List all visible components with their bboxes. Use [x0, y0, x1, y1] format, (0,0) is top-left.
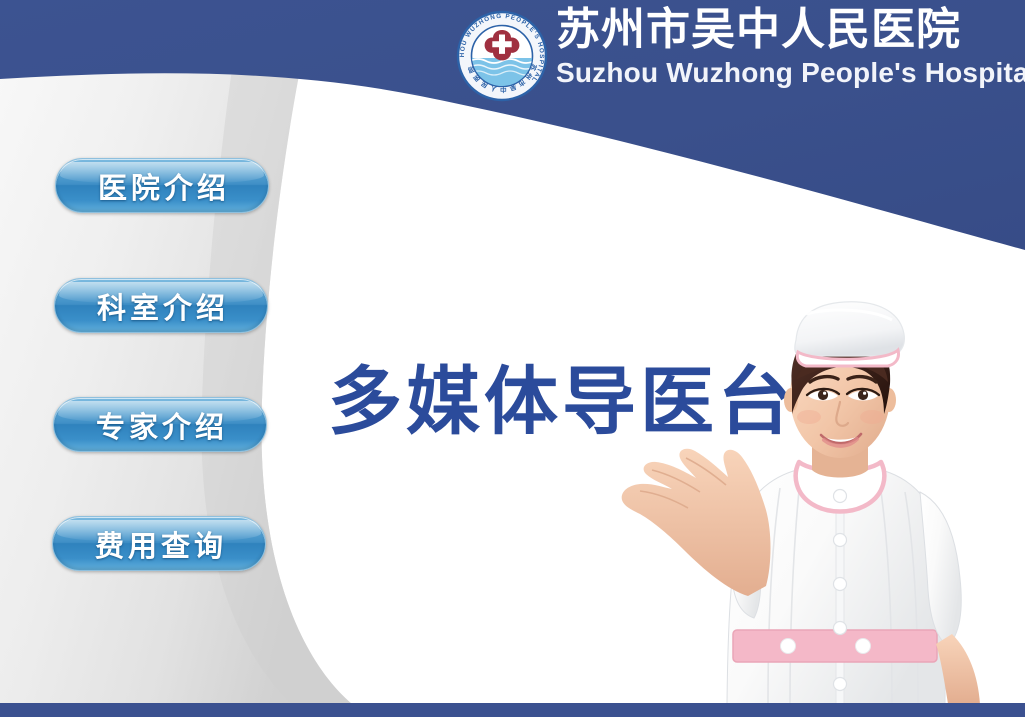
sidebar-item-label: 科室介绍 — [93, 285, 229, 327]
sidebar-item-label: 医院介绍 — [94, 165, 230, 207]
sidebar-item-expert-intro[interactable]: 专家介绍 — [53, 397, 267, 452]
sidebar-nav: 医院介绍 科室介绍 专家介绍 费用查询 — [0, 0, 300, 717]
sidebar-item-department-intro[interactable]: 科室介绍 — [54, 278, 268, 333]
sidebar-item-fee-inquiry[interactable]: 费用查询 — [52, 516, 266, 571]
footer-bar — [0, 703, 1025, 717]
nurse-photo — [600, 278, 1025, 704]
kiosk-screen: SUZHOU WUZHONG PEOPLE'S HOSPITAL 苏州市吴中人民… — [0, 0, 1025, 717]
sidebar-item-hospital-intro[interactable]: 医院介绍 — [55, 158, 269, 213]
sidebar-item-label: 专家介绍 — [92, 404, 228, 446]
sidebar-item-label: 费用查询 — [91, 523, 227, 565]
